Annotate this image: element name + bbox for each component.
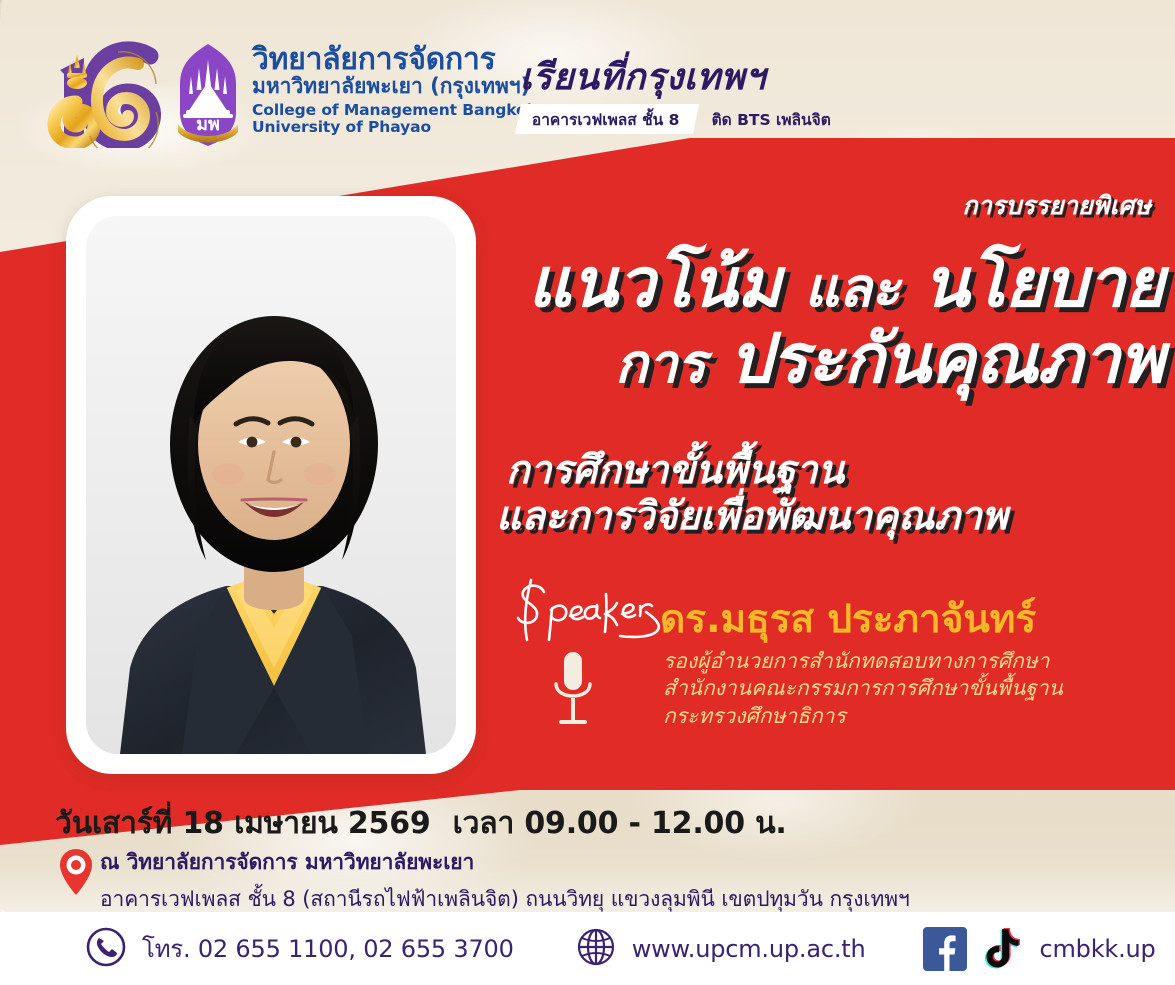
facebook-icon[interactable] — [923, 927, 967, 971]
org-name-en-1: College of Management Bangkok — [252, 102, 502, 118]
social-handle: cmbkk.up — [1039, 935, 1155, 963]
headline-line-2: การ ประกันคุณภาพ — [496, 326, 1164, 394]
bangkok-location-row: อาคารเวฟเพลส ชั้น 8 ติด BTS เพลินจิต — [518, 104, 831, 134]
contact-phone[interactable]: โทร. 02 655 1100, 02 655 3700 — [86, 927, 514, 971]
headline-word-1: แนวโน้ม — [528, 244, 781, 323]
subheadline-line-2: และการวิจัยเพื่อพัฒนาคุณภาพ — [496, 494, 1164, 540]
speaker-portrait-frame — [66, 196, 476, 774]
venue-line-1: ณ วิทยาลัยการจัดการ มหาวิทยาลัยพะเยา — [100, 846, 910, 879]
speaker-portrait-photo — [86, 216, 456, 754]
bangkok-building-box: อาคารเวฟเพลส ชั้น 8 — [515, 104, 698, 134]
headline-line-1: แนวโน้ม และ นโยบาย — [496, 250, 1164, 318]
headline-word-2: และ — [804, 256, 899, 319]
svg-text:มพ: มพ — [196, 114, 220, 135]
speaker-name: ดร.มธุรส ประภาจันทร์ — [660, 588, 1036, 650]
bangkok-building-label: อาคารเวฟเพลส ชั้น 8 — [532, 107, 680, 132]
event-datetime: วันเสาร์ที่ 18 เมษายน 2569เวลา 09.00 - 1… — [55, 800, 787, 847]
event-kicker-label: การบรรยายพิเศษ — [962, 186, 1151, 226]
website-url: www.upcm.up.ac.th — [632, 935, 866, 963]
event-venue: ณ วิทยาลัยการจัดการ มหาวิทยาลัยพะเยา อาค… — [100, 846, 910, 916]
org-name-en-2: University of Phayao — [252, 119, 502, 135]
anniversary-logo-16 — [46, 40, 164, 148]
main-headline: แนวโน้ม และ นโยบาย การ ประกันคุณภาพ — [496, 250, 1164, 394]
headline-word-3: นโยบาย — [923, 244, 1164, 323]
main-subheadline: การศึกษาขั้นพื้นฐาน และการวิจัยเพื่อพัฒน… — [496, 448, 1164, 540]
organization-names: วิทยาลัยการจัดการ มหาวิทยาลัยพะเยา (กรุง… — [252, 44, 502, 135]
phone-number: โทร. 02 655 1100, 02 655 3700 — [142, 929, 514, 968]
speaker-role-line-1: รองผู้อำนวยการสำนักทดสอบทางการศึกษา — [663, 648, 1063, 675]
org-name-th-1: วิทยาลัยการจัดการ — [252, 44, 502, 75]
speaker-role-line-3: กระทรวงศึกษาธิการ — [663, 703, 1063, 730]
poster-root: มพ วิทยาลัยการจัดการ มหาวิทยาลัยพะเยา (ก… — [0, 0, 1175, 985]
subheadline-line-1: การศึกษาขั้นพื้นฐาน — [496, 448, 1164, 494]
university-seal-icon: มพ — [170, 40, 246, 148]
speaker-script-label — [510, 578, 670, 646]
header: มพ วิทยาลัยการจัดการ มหาวิทยาลัยพะเยา (ก… — [0, 0, 1175, 150]
event-date: วันเสาร์ที่ 18 เมษายน 2569 — [55, 806, 431, 841]
microphone-icon — [548, 650, 598, 730]
phone-icon — [86, 927, 126, 971]
contact-social[interactable]: cmbkk.up — [923, 926, 1155, 972]
headline-word-5: ประกันคุณภาพ — [729, 320, 1164, 399]
study-in-bangkok-headline: เรียนที่กรุงเทพฯ — [520, 48, 766, 105]
org-name-th-2: มหาวิทยาลัยพะเยา (กรุงเทพฯ) — [252, 76, 502, 98]
globe-icon — [576, 927, 616, 971]
bangkok-transit-label: ติด BTS เพลินจิต — [712, 107, 831, 132]
tiktok-icon[interactable] — [979, 926, 1025, 972]
contact-website[interactable]: www.upcm.up.ac.th — [576, 927, 866, 971]
speaker-role-line-2: สำนักงานคณะกรรมการการศึกษาขั้นพื้นฐาน — [663, 675, 1063, 702]
contact-footer: โทร. 02 655 1100, 02 655 3700 www.upcm.u… — [0, 912, 1175, 985]
event-time: เวลา 09.00 - 12.00 น. — [453, 806, 787, 841]
speaker-role: รองผู้อำนวยการสำนักทดสอบทางการศึกษา สำนั… — [663, 648, 1063, 730]
red-left-edge-block — [0, 252, 68, 762]
location-pin-icon — [58, 848, 94, 896]
headline-word-4: การ — [615, 332, 706, 395]
